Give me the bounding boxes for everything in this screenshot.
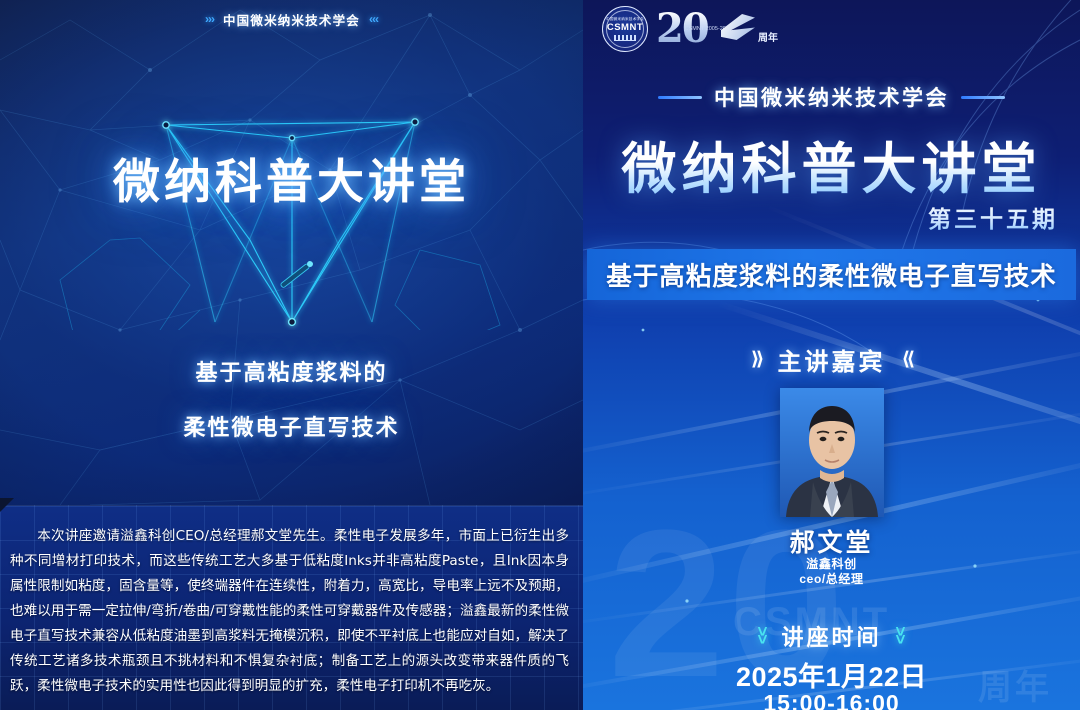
speaker-affiliation: 溢鑫科创 ceo/总经理 <box>583 557 1080 587</box>
left-subtitle-line1: 基于高粘度浆料的 <box>0 355 583 387</box>
time-heading-row: ˅˅ 讲座时间 ˅˅ <box>583 620 1080 652</box>
guest-heading: 主讲嘉宾 <box>778 342 886 377</box>
association-name-top: 中国微米纳米技术学会 <box>223 10 360 29</box>
left-description-text: 本次讲座邀请溢鑫科创CEO/总经理郝文堂先生。柔性电子发展多年，市面上已衍生出多… <box>10 524 569 699</box>
chevron-right-triple-icon: ››› <box>205 12 214 26</box>
chevron-right-triple-icon: ⟫ <box>751 348 762 371</box>
left-panel: ››› 中国微米纳米技术学会 ‹‹‹ 微纳科普大讲堂 基于高粘度浆料的 柔性微电… <box>0 0 583 710</box>
lecture-time-range: 15:00-16:00 <box>583 690 1080 710</box>
speaker-role: ceo/总经理 <box>583 572 1080 587</box>
association-name: 中国微米纳米技术学会 <box>714 82 949 112</box>
topic-text: 基于高粘度浆料的柔性微电子直写技术 <box>606 256 1057 293</box>
left-main-title: 微纳科普大讲堂 <box>0 143 583 212</box>
anniversary-logo: 20 CSMNT 2005-2025 周年 <box>656 11 778 47</box>
swoosh-icon <box>721 14 755 40</box>
seal-wave-icon <box>614 35 636 41</box>
speaker-name: 郝文堂 <box>583 523 1080 559</box>
time-heading: 讲座时间 <box>781 620 881 652</box>
chevron-double-down-icon-left: ˅˅ <box>758 625 768 646</box>
chevron-double-down-icon-right: ˅˅ <box>896 625 906 646</box>
organization-logo-group: 中国微米纳米技术学会 CSMNT 20 CSMNT 2005-2025 周年 <box>602 6 778 52</box>
association-row: 中国微米纳米技术学会 <box>583 82 1080 112</box>
left-description-block: 本次讲座邀请溢鑫科创CEO/总经理郝文堂先生。柔性电子发展多年，市面上已衍生出多… <box>0 505 583 710</box>
left-topbar: ››› 中国微米纳米技术学会 ‹‹‹ <box>0 0 583 38</box>
right-panel: 20 CSMNT 周年 中国微米纳米技术学会 CSMNT 20 CSMNT 20… <box>583 0 1080 710</box>
speaker-portrait-illustration <box>780 388 884 517</box>
chevron-left-triple-icon: ‹‹‹ <box>369 12 378 26</box>
seal-mark-text: CSMNT <box>607 23 643 33</box>
topic-banner: 基于高粘度浆料的柔性微电子直写技术 <box>587 249 1076 300</box>
speaker-photo <box>780 388 884 517</box>
csmnt-seal-icon: 中国微米纳米技术学会 CSMNT <box>602 6 648 52</box>
seal-top-text: 中国微米纳米技术学会 <box>606 17 644 22</box>
rule-left-icon <box>658 96 702 99</box>
left-subtitle-line2: 柔性微电子直写技术 <box>0 410 583 442</box>
speaker-org: 溢鑫科创 <box>583 557 1080 572</box>
right-main-title: 微纳科普大讲堂 <box>583 124 1080 204</box>
rule-right-icon <box>961 96 1005 99</box>
guest-heading-row: ⟫ 主讲嘉宾 ⟪ <box>583 342 1080 377</box>
webinar-poster: ››› 中国微米纳米技术学会 ‹‹‹ 微纳科普大讲堂 基于高粘度浆料的 柔性微电… <box>0 0 1080 710</box>
anniversary-label: 周年 <box>758 29 778 44</box>
chevron-left-triple-icon: ⟪ <box>902 348 913 371</box>
lecture-date: 2025年1月22日 <box>583 655 1080 694</box>
issue-number: 第三十五期 <box>928 200 1058 234</box>
